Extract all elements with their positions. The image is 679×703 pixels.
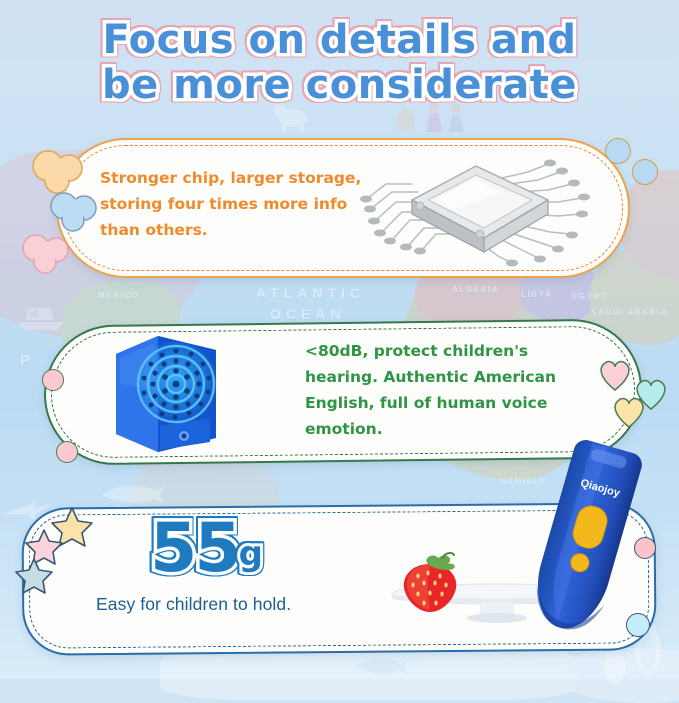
map-label-algeria: ALGERIA [452, 285, 499, 294]
weight-value-display: 55g [150, 516, 263, 582]
map-label-saudi-arabia: SAUDI ARABIA [591, 308, 668, 317]
circle-pink-1 [42, 369, 64, 391]
weight-number: 55 [150, 509, 239, 588]
map-label-ocean: OCEAN [270, 306, 346, 322]
map-label-atlantic: ATLANTIC [256, 285, 365, 301]
map-label-pacific: P [20, 352, 32, 369]
panel-speaker-text: <80dB, protect children's hearing. Authe… [305, 338, 595, 442]
reading-pen-product: Qiaojoy [528, 438, 648, 638]
weight-unit: g [239, 534, 263, 574]
weight-caption: Easy for children to hold. [96, 594, 291, 615]
circle-pink-2 [56, 441, 78, 463]
map-label-egypt: EGYPT [572, 292, 607, 301]
map-label-libya: LIBYA [521, 290, 552, 299]
cloud-shape-pink [20, 232, 72, 274]
page-title: Focus on details and be more considerate [0, 18, 679, 108]
shark-silhouette-left [98, 477, 168, 507]
whale-silhouette [352, 650, 410, 676]
heart-yellow [610, 393, 648, 429]
speaker-module-illustration [98, 330, 228, 456]
heart-pink [596, 356, 634, 392]
panel-chip-text: Stronger chip, larger storage, storing f… [100, 165, 365, 243]
title-line-2: be more considerate [0, 63, 679, 108]
cloud-shape-blue [48, 190, 100, 232]
title-line-1: Focus on details and [0, 18, 679, 63]
microchip-illustration [352, 148, 602, 268]
cloud-shape-orange [30, 148, 86, 194]
star-blue [14, 556, 54, 594]
circle-blue-2 [632, 159, 658, 185]
circle-blue-1 [605, 138, 631, 164]
map-label-mexico: MEXICO [98, 291, 139, 300]
